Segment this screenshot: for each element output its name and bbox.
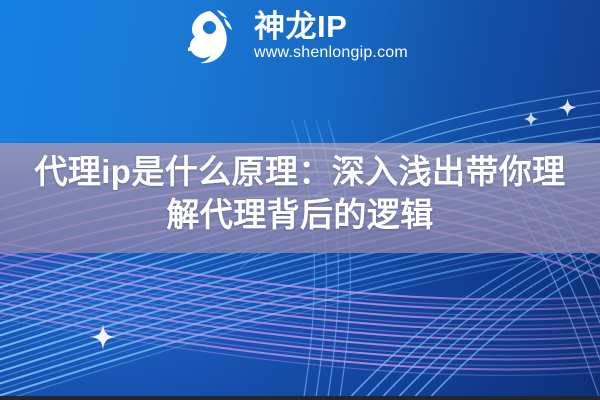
brand-url: www.shenlongip.com bbox=[254, 43, 408, 63]
sparkle-star-top-right bbox=[558, 98, 577, 117]
brand-logo: 神龙IP www.shenlongip.com bbox=[182, 6, 482, 68]
page-title-line-1: 代理ip是什么原理：深入浅出带你理 bbox=[0, 150, 600, 193]
sparkle-star-left bbox=[90, 324, 116, 350]
page-title: 代理ip是什么原理：深入浅出带你理 解代理背后的逻辑 bbox=[0, 150, 600, 236]
page-title-line-2: 解代理背后的逻辑 bbox=[0, 193, 600, 236]
sparkle-star-upper-right bbox=[523, 111, 539, 127]
bottom-trim-strip bbox=[0, 396, 600, 400]
promo-banner: 神龙IP www.shenlongip.com 代理ip是什么原理：深入浅出带你… bbox=[0, 0, 600, 400]
brand-name: 神龙IP bbox=[254, 11, 408, 43]
logo-text-block: 神龙IP www.shenlongip.com bbox=[254, 11, 408, 64]
dragon-logo-mark bbox=[182, 8, 244, 66]
